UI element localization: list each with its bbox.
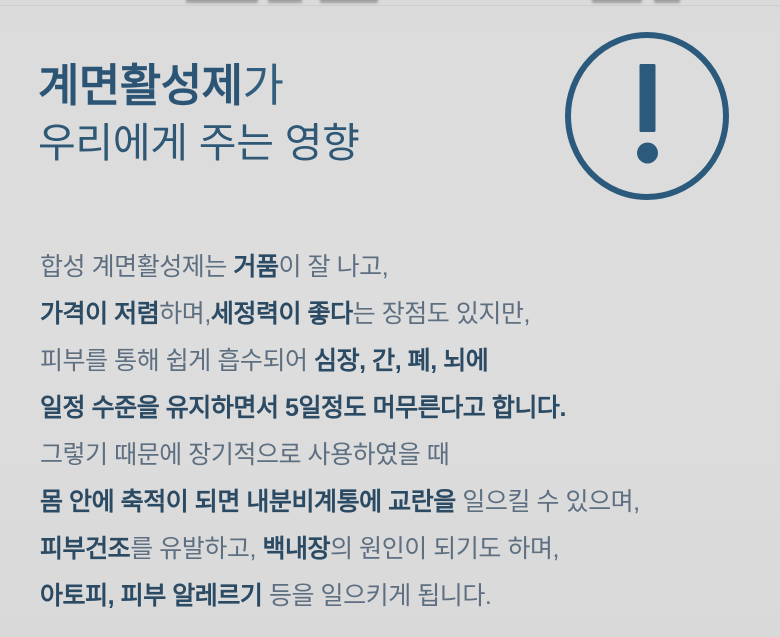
body-text: 는 장점도 있지만, bbox=[353, 300, 530, 328]
body-text: 등을 일으키게 됩니다. bbox=[262, 582, 491, 610]
infographic-poster: 계면활성제가 우리에게 주는 영향 합성 계면활성제는 거품이 잘 나고,가격이… bbox=[0, 0, 780, 637]
body-emphasis: 가격이 저렴 bbox=[40, 300, 159, 328]
body-emphasis: 피부건조 bbox=[40, 535, 130, 563]
exclamation-circle-icon bbox=[556, 28, 738, 204]
body-emphasis: 일정 수준을 유지하면서 5일정도 머무른다고 합니다. bbox=[40, 394, 566, 422]
body-emphasis: 심장, 간, 폐, 뇌에 bbox=[314, 347, 488, 375]
body-line: 일정 수준을 유지하면서 5일정도 머무른다고 합니다. bbox=[40, 385, 760, 432]
title-line-1: 계면활성제가 bbox=[38, 58, 508, 114]
body-text: 의 원인이 되기도 하며, bbox=[330, 535, 559, 563]
title-particle: 가 bbox=[243, 60, 284, 111]
body-text: 합성 계면활성제는 bbox=[40, 253, 233, 281]
body-emphasis: 몸 안에 축적이 되면 내분비계통에 교란을 bbox=[40, 488, 456, 516]
body-text: 그렇기 때문에 장기적으로 사용하였을 때 bbox=[40, 441, 449, 469]
title-keyword: 계면활성제 bbox=[38, 60, 243, 111]
body-line: 아토피, 피부 알레르기 등을 일으키게 됩니다. bbox=[40, 573, 760, 620]
body-emphasis: 거품 bbox=[233, 253, 278, 281]
body-text: 를 유발하고, bbox=[130, 535, 262, 563]
page-title: 계면활성제가 우리에게 주는 영향 bbox=[38, 58, 508, 170]
body-line: 그렇기 때문에 장기적으로 사용하였을 때 bbox=[40, 432, 760, 479]
body-emphasis: 세정력이 좋다 bbox=[211, 300, 353, 328]
body-emphasis: 백내장 bbox=[262, 535, 330, 563]
body-line: 피부건조를 유발하고, 백내장의 원인이 되기도 하며, bbox=[40, 526, 760, 573]
body-text: 하며, bbox=[159, 300, 211, 328]
body-emphasis: 아토피, 피부 알레르기 bbox=[40, 582, 262, 610]
top-divider bbox=[0, 5, 780, 6]
body-copy: 합성 계면활성제는 거품이 잘 나고,가격이 저렴하며,세정력이 좋다는 장점도… bbox=[40, 244, 760, 620]
body-line: 합성 계면활성제는 거품이 잘 나고, bbox=[40, 244, 760, 291]
body-text: 일으킬 수 있으며, bbox=[456, 488, 640, 516]
body-line: 몸 안에 축적이 되면 내분비계통에 교란을 일으킬 수 있으며, bbox=[40, 479, 760, 526]
body-line: 가격이 저렴하며,세정력이 좋다는 장점도 있지만, bbox=[40, 291, 760, 338]
title-line-2: 우리에게 주는 영향 bbox=[38, 116, 508, 170]
body-text: 이 잘 나고, bbox=[279, 253, 389, 281]
body-text: 피부를 통해 쉽게 흡수되어 bbox=[40, 347, 314, 375]
body-line: 피부를 통해 쉽게 흡수되어 심장, 간, 폐, 뇌에 bbox=[40, 338, 760, 385]
